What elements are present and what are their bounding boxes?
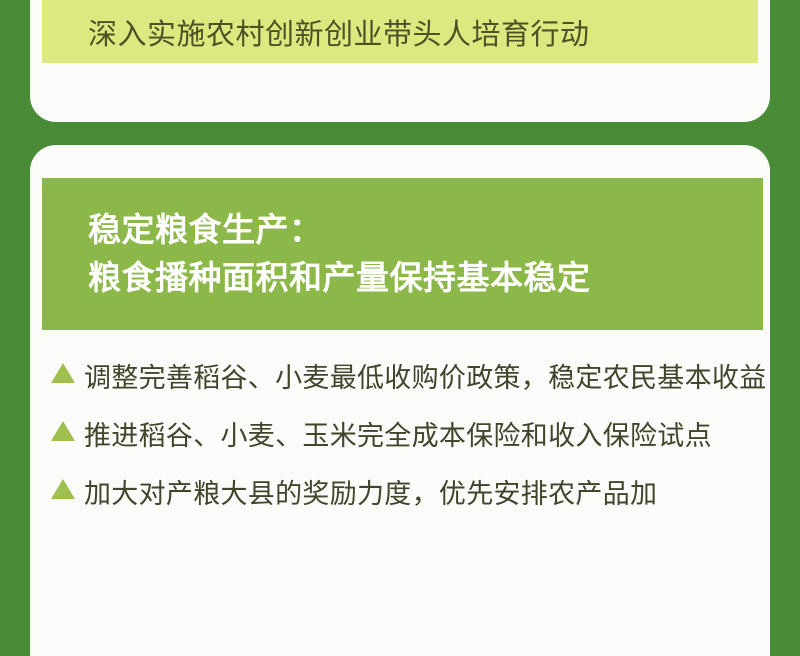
triangle-up-icon <box>50 466 84 501</box>
section-heading-band: 稳定粮食生产： 粮食播种面积和产量保持基本稳定 <box>42 178 763 330</box>
section-heading-line-2: 粮食播种面积和产量保持基本稳定 <box>88 254 763 302</box>
policy-card-top: 深入实施农村创新创业带头人培育行动 <box>30 0 770 122</box>
policy-bullet-list: 调整完善稻谷、小麦最低收购价政策，稳定农民基本收益 推进稻谷、小麦、玉米完全成本… <box>42 350 770 524</box>
triangle-up-icon <box>50 408 84 443</box>
list-item: 加大对产粮大县的奖励力度，优先安排农产品加 <box>50 466 770 522</box>
list-item-label: 推进稻谷、小麦、玉米完全成本保险和收入保险试点 <box>84 408 770 464</box>
triangle-up-icon <box>50 350 84 385</box>
top-card-highlight-band: 深入实施农村创新创业带头人培育行动 <box>42 0 758 63</box>
list-item-label: 加大对产粮大县的奖励力度，优先安排农产品加 <box>84 466 770 522</box>
list-item: 推进稻谷、小麦、玉米完全成本保险和收入保险试点 <box>50 408 770 464</box>
infographic-page: 深入实施农村创新创业带头人培育行动 稳定粮食生产： 粮食播种面积和产量保持基本稳… <box>0 0 800 656</box>
policy-card-grain-production: 稳定粮食生产： 粮食播种面积和产量保持基本稳定 调整完善稻谷、小麦最低收购价政策… <box>30 145 770 656</box>
list-item-label: 调整完善稻谷、小麦最低收购价政策，稳定农民基本收益 <box>84 350 770 406</box>
top-card-band-text: 深入实施农村创新创业带头人培育行动 <box>88 11 590 53</box>
list-item: 调整完善稻谷、小麦最低收购价政策，稳定农民基本收益 <box>50 350 770 406</box>
section-heading-line-1: 稳定粮食生产： <box>88 206 763 254</box>
